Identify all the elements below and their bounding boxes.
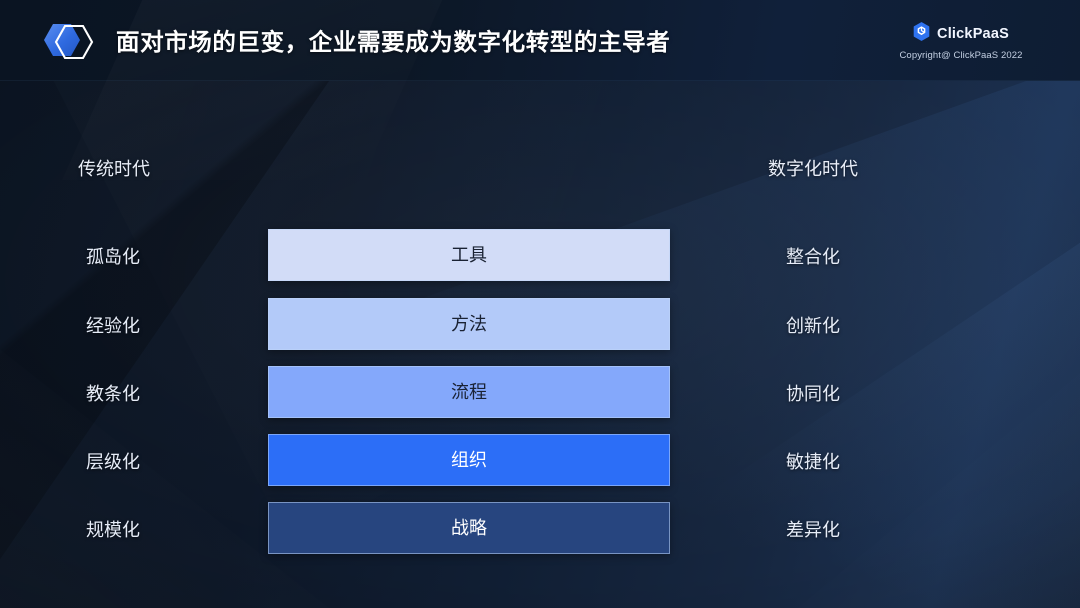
left-label-3: 教条化 (86, 380, 256, 406)
right-label-3: 协同化 (786, 380, 956, 406)
left-label-5: 规模化 (86, 516, 256, 542)
center-bar-4[interactable]: 组织 (268, 434, 670, 486)
column-header-digital: 数字化时代 (768, 155, 858, 181)
center-bar-5[interactable]: 战略 (268, 502, 670, 554)
copyright-text: Copyright@ ClickPaaS 2022 (876, 50, 1046, 61)
page-title: 面对市场的巨变，企业需要成为数字化转型的主导者 (116, 0, 670, 80)
brand-name: ClickPaaS (937, 26, 1009, 42)
slide-header: 面对市场的巨变，企业需要成为数字化转型的主导者 ClickPaaS Copyri… (0, 0, 1080, 81)
right-label-4: 敏捷化 (786, 448, 956, 474)
left-label-2: 经验化 (86, 312, 256, 338)
right-label-5: 差异化 (786, 516, 956, 542)
center-bar-label-4: 组织 (451, 451, 487, 469)
left-label-4: 层级化 (86, 448, 256, 474)
clickpaas-hexagon-icon (913, 22, 930, 46)
column-header-traditional: 传统时代 (78, 155, 150, 181)
center-bar-label-3: 流程 (451, 383, 487, 401)
center-bar-3[interactable]: 流程 (268, 366, 670, 418)
right-label-1: 整合化 (786, 243, 956, 269)
right-label-2: 创新化 (786, 312, 956, 338)
hexagon-logo-icon (40, 20, 98, 64)
center-bar-2[interactable]: 方法 (268, 298, 670, 350)
left-label-1: 孤岛化 (86, 243, 256, 269)
center-bar-label-5: 战略 (451, 519, 487, 537)
center-bar-label-1: 工具 (451, 246, 487, 264)
slide-canvas: 面对市场的巨变，企业需要成为数字化转型的主导者 ClickPaaS Copyri… (0, 0, 1080, 608)
center-bar-1[interactable]: 工具 (268, 229, 670, 281)
center-bar-label-2: 方法 (451, 315, 487, 333)
brand-block: ClickPaaS Copyright@ ClickPaaS 2022 (876, 22, 1046, 61)
